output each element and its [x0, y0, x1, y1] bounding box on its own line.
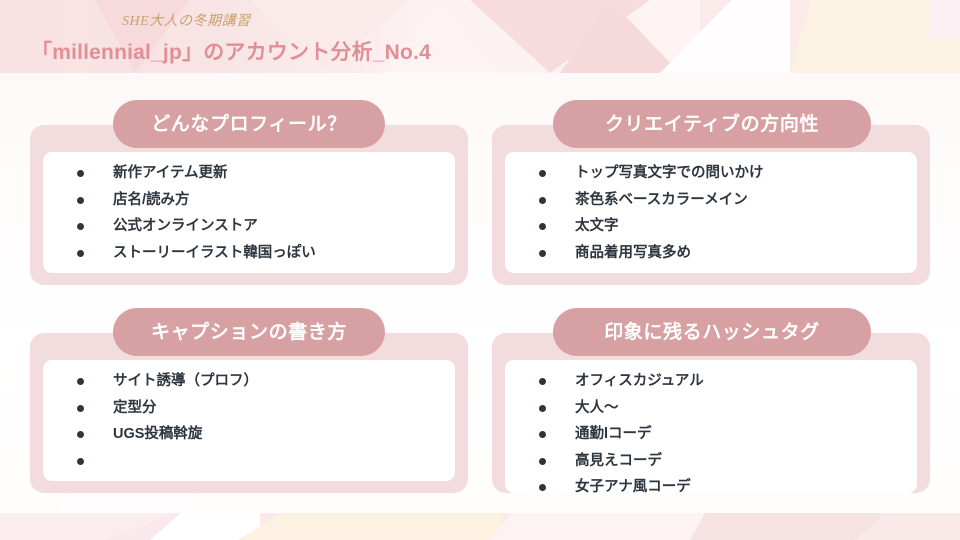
- card-profile-header: どんなプロフィール？: [113, 100, 385, 148]
- card-caption-body: サイト誘導（プロフ） 定型分 UGS投稿斡旋: [43, 360, 455, 481]
- list-item: 太文字: [539, 219, 901, 234]
- list-item-empty: [77, 454, 439, 469]
- card-hashtag-list: オフィスカジュアル 大人〜 通勤lコーデ 高見えコーデ 女子アナ風コーデ: [539, 374, 901, 493]
- list-item: 女子アナ風コーデ: [539, 480, 901, 493]
- footer-shape-pink-left: [0, 513, 175, 540]
- card-creative-body: トップ写真文字での問いかけ 茶色系ベースカラーメイン 太文字 商品着用写真多め: [505, 152, 917, 273]
- card-hashtag-header: 印象に残るハッシュタグ: [553, 308, 871, 356]
- slide: SHE大人の冬期講習 「millennial_jp」のアカウント分析_No.4 …: [0, 0, 960, 540]
- footer-band: [0, 513, 960, 540]
- card-profile-title: どんなプロフィール？: [151, 115, 347, 134]
- footer-shape-white: [150, 513, 260, 540]
- slide-header: SHE大人の冬期講習 「millennial_jp」のアカウント分析_No.4: [0, 0, 960, 73]
- card-caption-header: キャプションの書き方: [113, 308, 385, 356]
- card-caption-list: サイト誘導（プロフ） 定型分 UGS投稿斡旋: [77, 374, 439, 468]
- list-item: 通勤lコーデ: [539, 427, 901, 442]
- footer-shape-rose-right: [855, 513, 960, 540]
- list-item: 店名/読み方: [77, 193, 439, 208]
- list-item: UGS投稿斡旋: [77, 427, 439, 442]
- card-profile-body: 新作アイテム更新 店名/読み方 公式オンラインストア ストーリーイラスト韓国っぽ…: [43, 152, 455, 273]
- list-item: ストーリーイラスト韓国っぽい: [77, 246, 439, 261]
- card-hashtag-title: 印象に残るハッシュタグ: [604, 323, 820, 342]
- list-item: サイト誘導（プロフ）: [77, 374, 439, 389]
- footer-shape-rose: [690, 513, 880, 540]
- list-item: オフィスカジュアル: [539, 374, 901, 389]
- list-item: 新作アイテム更新: [77, 166, 439, 181]
- list-item: 定型分: [77, 401, 439, 416]
- card-caption-title: キャプションの書き方: [151, 323, 347, 342]
- footer-shape-pale: [490, 513, 710, 540]
- card-profile-list: 新作アイテム更新 店名/読み方 公式オンラインストア ストーリーイラスト韓国っぽ…: [77, 166, 439, 260]
- list-item: 高見えコーデ: [539, 454, 901, 469]
- card-creative-title: クリエイティブの方向性: [605, 115, 819, 134]
- card-creative-header: クリエイティブの方向性: [553, 100, 871, 148]
- card-hashtag-body: オフィスカジュアル 大人〜 通勤lコーデ 高見えコーデ 女子アナ風コーデ: [505, 360, 917, 493]
- card-creative-list: トップ写真文字での問いかけ 茶色系ベースカラーメイン 太文字 商品着用写真多め: [539, 166, 901, 260]
- footer-shape-cream: [238, 513, 503, 540]
- list-item: 茶色系ベースカラーメイン: [539, 193, 901, 208]
- list-item: トップ写真文字での問いかけ: [539, 166, 901, 181]
- list-item: 公式オンラインストア: [77, 219, 439, 234]
- list-item: 大人〜: [539, 401, 901, 416]
- header-eyebrow: SHE大人の冬期講習: [122, 10, 251, 30]
- page-title: 「millennial_jp」のアカウント分析_No.4: [31, 36, 431, 66]
- list-item: 商品着用写真多め: [539, 246, 901, 261]
